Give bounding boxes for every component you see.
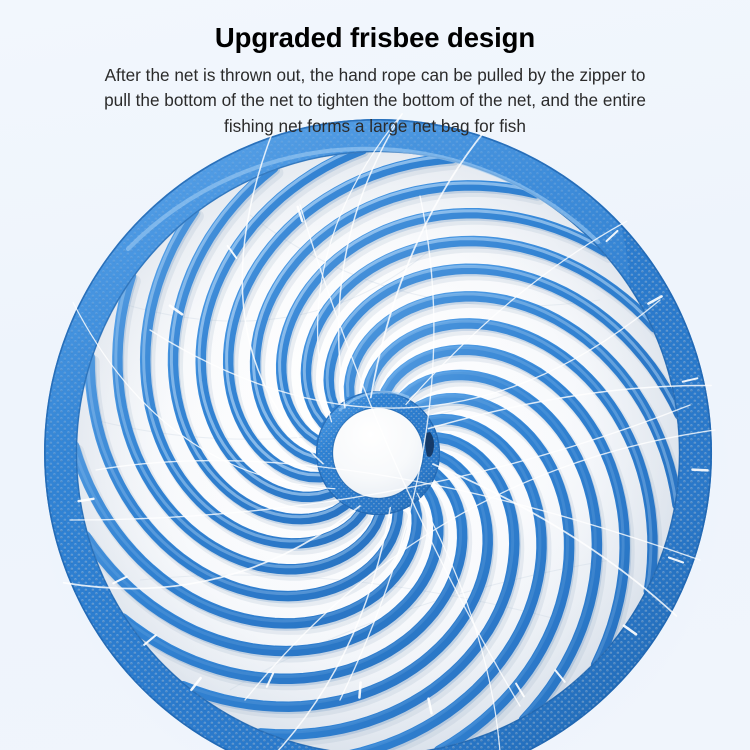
net-knot [359,683,360,698]
description-line-3: fishing net forms a large net bag for fi… [30,114,720,140]
header-text-block: Upgraded frisbee design After the net is… [0,0,750,139]
product-detail-page: Upgraded frisbee design After the net is… [0,0,750,750]
description-line-1: After the net is thrown out, the hand ro… [30,63,720,89]
net-knot [693,470,708,471]
page-description: After the net is thrown out, the hand ro… [30,63,720,140]
page-title: Upgraded frisbee design [0,22,750,54]
description-line-2: pull the bottom of the net to tighten th… [30,88,720,114]
